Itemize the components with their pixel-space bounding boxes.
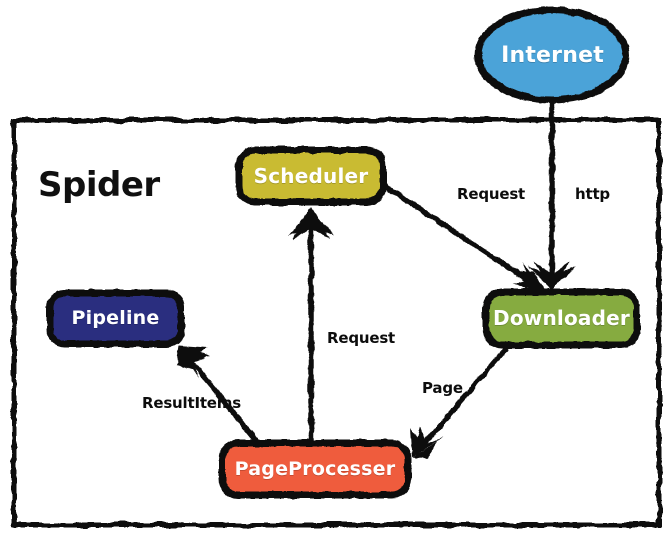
edge-internet-to-downloader [528, 100, 576, 292]
node-hit-pageprocesser[interactable] [220, 441, 410, 496]
node-hit-scheduler[interactable] [237, 148, 385, 203]
node-hit-pipeline[interactable] [48, 291, 183, 345]
node-hit-internet[interactable] [475, 8, 630, 103]
edge-label-page: Page [422, 379, 463, 397]
edge-label-resultitems: ResultItems [142, 394, 241, 412]
edge-downloader-to-pageprocesser [410, 350, 505, 459]
node-hit-downloader[interactable] [484, 290, 639, 346]
edge-pageprocesser-to-scheduler [288, 207, 334, 441]
edge-label-http: http [575, 185, 610, 203]
edge-label-request-pageprocesser-scheduler: Request [327, 329, 395, 347]
diagram-canvas: Spider Internet Scheduler Downloader Pip… [0, 0, 669, 540]
edge-label-request-scheduler-downloader: Request [457, 185, 525, 203]
spider-container-label: Spider [38, 165, 160, 205]
